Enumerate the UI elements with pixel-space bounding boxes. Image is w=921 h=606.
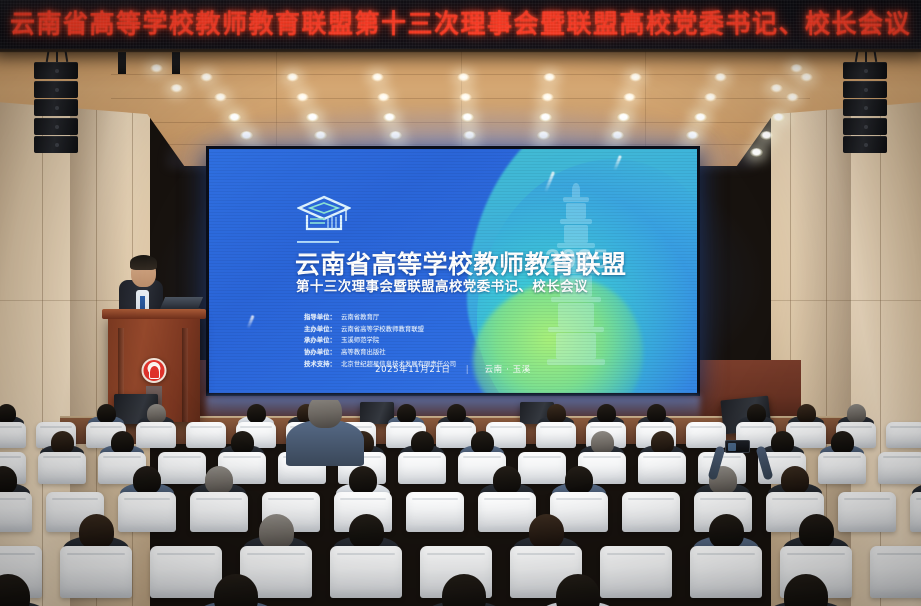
audience-member-head xyxy=(349,514,384,549)
screen-org-row: 指导单位：云南省教育厅 xyxy=(304,312,456,324)
audience-chair xyxy=(536,422,576,448)
ceiling-downlight xyxy=(750,148,763,157)
audience-member-head xyxy=(647,404,666,423)
ceiling-downlight xyxy=(629,73,642,82)
audience-member-head xyxy=(0,404,16,423)
ceiling-downlight xyxy=(617,113,630,122)
audience-chair xyxy=(60,546,132,598)
audience-chair xyxy=(190,492,248,532)
audience-member-head xyxy=(447,404,466,423)
line-array-speaker-right xyxy=(843,62,887,155)
audience-chair xyxy=(600,546,672,598)
audience-member-head xyxy=(847,404,866,423)
audience-member-head xyxy=(651,431,674,454)
audience-chair xyxy=(878,452,921,484)
conference-hall-photo: 云南省高等学校教师教育联盟第十三次理事会暨联盟高校党委书记、校长会议 xyxy=(0,0,921,606)
ceiling-downlight xyxy=(800,73,813,82)
led-header-banner: 云南省高等学校教师教育联盟第十三次理事会暨联盟高校党委书记、校长会议 xyxy=(0,0,921,52)
ceiling-downlight xyxy=(150,64,163,73)
ceiling-downlight xyxy=(786,93,799,102)
ceiling-downlight xyxy=(170,84,183,93)
ceiling-downlight xyxy=(214,93,227,102)
audience-chair xyxy=(186,422,226,448)
audience-chair xyxy=(910,492,921,532)
audience-member-head xyxy=(797,404,816,423)
ceiling-downlight xyxy=(463,131,476,140)
ceiling-downlight xyxy=(772,113,785,122)
audience-seating xyxy=(0,400,921,606)
audience-member-head xyxy=(799,514,834,549)
ceiling-downlight xyxy=(228,113,241,122)
ceiling-downlight xyxy=(623,93,636,102)
audience-chair xyxy=(690,546,762,598)
audience-chair xyxy=(638,452,686,484)
audience-member-head xyxy=(471,431,494,454)
audience-member-head xyxy=(247,404,266,423)
audience-chair xyxy=(38,452,86,484)
led-banner-text: 云南省高等学校教师教育联盟第十三次理事会暨联盟高校党委书记、校长会议 xyxy=(0,4,921,40)
screen-org-value: 云南省高等学校教师教育联盟 xyxy=(341,324,424,336)
audience-chair xyxy=(436,422,476,448)
ceiling-downlight xyxy=(760,131,773,140)
screen-org-label: 指导单位： xyxy=(304,312,336,324)
audience-member-head xyxy=(529,514,564,549)
ceiling-downlight xyxy=(539,113,552,122)
ceiling-downlight xyxy=(306,113,319,122)
audience-chair xyxy=(0,492,32,532)
audience-member-head xyxy=(556,574,600,606)
audience-chair xyxy=(818,452,866,484)
audience-chair xyxy=(406,492,464,532)
university-crest-emblem xyxy=(142,358,167,383)
audience-member-head xyxy=(349,466,377,494)
audience-chair xyxy=(518,452,566,484)
ceiling-downlight xyxy=(790,64,803,73)
audience-member-head xyxy=(411,431,434,454)
audience-member-head xyxy=(205,466,233,494)
audience-chair xyxy=(886,422,921,448)
attendee-smartphone xyxy=(725,440,750,453)
audience-member-head xyxy=(781,466,809,494)
audience-chair xyxy=(686,422,726,448)
screen-date: 2025年11月21日 xyxy=(375,365,450,375)
screen-light-streak-3 xyxy=(246,315,254,329)
audience-chair xyxy=(478,492,536,532)
audience-chair xyxy=(398,452,446,484)
audience-member-head xyxy=(591,431,614,454)
audience-member-head xyxy=(493,466,521,494)
audience-chair xyxy=(0,422,26,448)
audience-member-head xyxy=(831,431,854,454)
audience-member-head xyxy=(133,466,161,494)
audience-member-head xyxy=(231,431,254,454)
audience-member-head xyxy=(259,514,294,549)
audience-member-head xyxy=(79,514,114,549)
standing-attendee-head xyxy=(308,400,342,428)
ceiling-downlight xyxy=(286,73,299,82)
screen-org-value: 高等教育出版社 xyxy=(341,347,386,359)
graduation-cap-logo xyxy=(297,195,351,237)
screen-org-row: 协办单位：高等教育出版社 xyxy=(304,347,456,359)
audience-member-head xyxy=(51,431,74,454)
audience-chair xyxy=(150,546,222,598)
screen-org-value: 云南省教育厅 xyxy=(341,312,379,324)
audience-member-head xyxy=(747,404,766,423)
presenter-hair xyxy=(130,255,157,270)
ceiling-downlight xyxy=(296,93,309,102)
audience-member-head xyxy=(597,404,616,423)
audience-member-head xyxy=(547,404,566,423)
ceiling-downlight xyxy=(200,73,213,82)
screen-org-row: 承办单位：玉溪师范学院 xyxy=(304,335,456,347)
ceiling-downlight xyxy=(686,131,699,140)
stage-led-screen: 云南省高等学校教师教育联盟 2025 第十三次理事会暨联盟高校党委书记、校长会议… xyxy=(206,146,700,396)
screen-organization-list: 指导单位：云南省教育厅主办单位：云南省高等学校教师教育联盟承办单位：玉溪师范学院… xyxy=(304,312,456,370)
ceiling-downlight xyxy=(389,131,402,140)
audience-member-head xyxy=(771,431,794,454)
audience-member-head xyxy=(709,514,744,549)
screen-org-label: 协办单位： xyxy=(304,347,336,359)
audience-chair xyxy=(158,452,206,484)
audience-member-head xyxy=(397,404,416,423)
podium-top-surface xyxy=(102,309,206,319)
line-array-speaker-left xyxy=(34,62,78,155)
screen-org-value: 玉溪师范学院 xyxy=(341,335,379,347)
screen-location: 云南 · 玉溪 xyxy=(485,365,531,375)
screen-org-row: 主办单位：云南省高等学校教师教育联盟 xyxy=(304,324,456,336)
audience-chair xyxy=(118,492,176,532)
audience-member-head xyxy=(565,466,593,494)
screen-org-label: 主办单位： xyxy=(304,324,336,336)
screen-footer-divider: | xyxy=(466,365,469,375)
ceiling-downlight xyxy=(770,84,783,93)
screen-footer: 2025年11月21日 | 云南 · 玉溪 xyxy=(209,363,697,375)
audience-chair xyxy=(870,546,921,598)
audience-chair xyxy=(330,546,402,598)
screen-year: 2025 xyxy=(545,244,609,275)
audience-member-head xyxy=(147,404,166,423)
screen-subtitle: 第十三次理事会暨联盟高校党委书记、校长会议 xyxy=(296,275,588,295)
ceiling-downlight xyxy=(240,131,253,140)
banner-bracket-right xyxy=(172,52,180,74)
screen-org-label: 承办单位： xyxy=(304,335,336,347)
ceiling-downlight xyxy=(543,73,556,82)
audience-chair xyxy=(622,492,680,532)
screen-title-rule xyxy=(297,241,339,243)
banner-bracket-left xyxy=(118,52,126,74)
audience-chair xyxy=(136,422,176,448)
audience-member-head xyxy=(111,431,134,454)
audience-chair xyxy=(838,492,896,532)
ceiling-downlight xyxy=(541,93,554,102)
audience-member-head xyxy=(97,404,116,423)
